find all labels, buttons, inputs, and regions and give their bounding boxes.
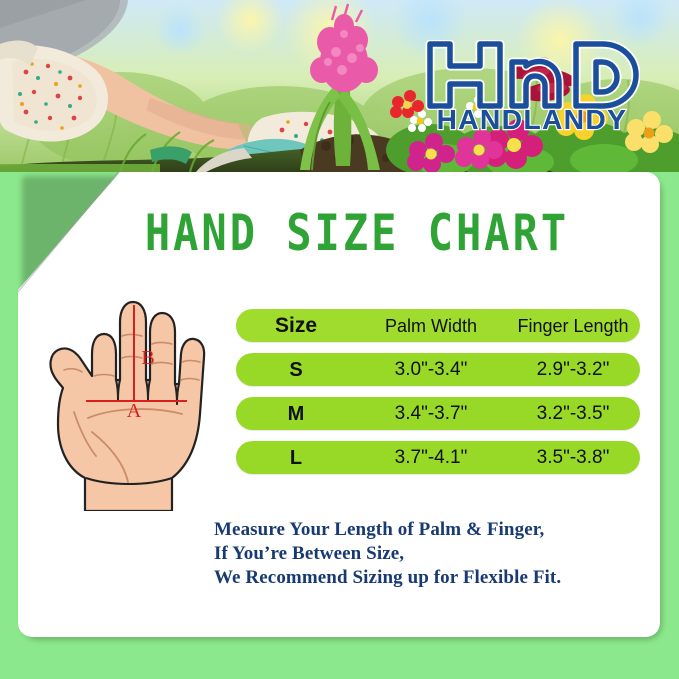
sizing-note-line-1: Measure Your Length of Palm & Finger, — [214, 518, 644, 542]
cell-finger-length: 3.5"-3.8" — [506, 448, 640, 467]
label-b: B — [141, 347, 154, 369]
column-header-palm-width: Palm Width — [356, 317, 506, 335]
table-row: S 3.0"-3.4" 2.9"-3.2" — [236, 353, 640, 386]
cell-palm-width: 3.7"-4.1" — [356, 448, 506, 467]
column-header-size: Size — [236, 315, 356, 336]
cell-palm-width: 3.4"-3.7" — [356, 404, 506, 423]
sizing-note-line-2: If You’re Between Size, — [214, 542, 644, 566]
brand-wordmark: HANDLANDY — [424, 104, 640, 136]
page-title: HAND SIZE CHART — [18, 204, 660, 262]
cell-finger-length: 2.9"-3.2" — [506, 360, 640, 379]
table-row: M 3.4"-3.7" 3.2"-3.5" — [236, 397, 640, 430]
sizing-note: Measure Your Length of Palm & Finger, If… — [214, 518, 644, 590]
hnd-monogram-icon — [424, 40, 640, 110]
table-header-row: Size Palm Width Finger Length — [236, 309, 640, 342]
size-table: Size Palm Width Finger Length S 3.0"-3.4… — [236, 309, 640, 485]
cell-palm-width: 3.0"-3.4" — [356, 360, 506, 379]
label-a: A — [127, 400, 142, 422]
cell-size: M — [236, 404, 356, 424]
cell-size: L — [236, 448, 356, 468]
hand-size-chart-page: HANDLANDY HANDLANDY HAND SIZE CHART — [0, 0, 679, 679]
hand-measure-diagram: A B — [30, 296, 230, 511]
sizing-note-line-3: We Recommend Sizing up for Flexible Fit. — [214, 566, 644, 590]
brand-logo: HANDLANDY HANDLANDY — [424, 40, 640, 140]
column-header-finger-length: Finger Length — [506, 317, 640, 335]
hand-outline-icon: A B — [30, 296, 230, 511]
cell-size: S — [236, 360, 356, 380]
cell-finger-length: 3.2"-3.5" — [506, 404, 640, 423]
table-row: L 3.7"-4.1" 3.5"-3.8" — [236, 441, 640, 474]
